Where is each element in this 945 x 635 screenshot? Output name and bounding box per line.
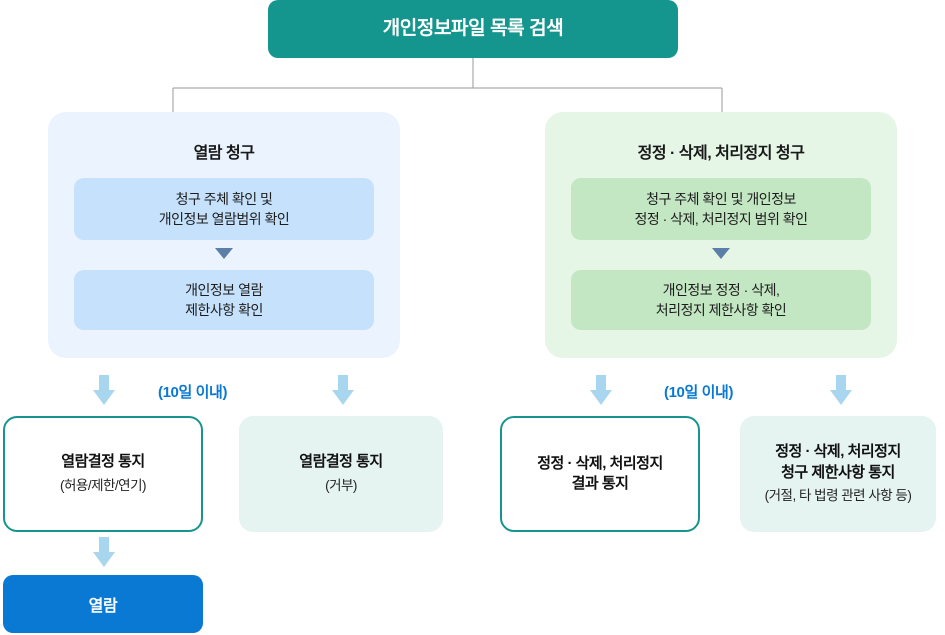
result-main-text-line1: 정정 · 삭제, 처리정지: [775, 442, 901, 462]
flowchart-canvas: 개인정보파일 목록 검색 열람 청구 청구 주체 확인 및 개인정보 열람범위 …: [0, 0, 945, 635]
final-box-label: 열람: [89, 592, 118, 616]
step-line-1: 개인정보 열람: [185, 280, 263, 300]
down-arrow-icon-final: [93, 537, 115, 567]
result-main-text-line2: 결과 통지: [572, 474, 629, 494]
result-box-view-decision-reject[interactable]: 열람결정 통지 (거부): [239, 416, 443, 532]
result-box-view-decision-allow[interactable]: 열람결정 통지 (허용/제한/연기): [3, 416, 203, 532]
header-title: 개인정보파일 목록 검색: [383, 18, 564, 41]
down-arrow-icon-view-approve: [93, 375, 115, 405]
result-main-text: 열람결정 통지: [61, 452, 144, 472]
step-line-2: 개인정보 열람범위 확인: [159, 209, 290, 229]
step-line-1: 청구 주체 확인 및 개인정보: [634, 189, 807, 209]
step-view-request-1: 청구 주체 확인 및 개인정보 열람범위 확인: [74, 178, 374, 240]
step-line-1: 청구 주체 확인 및: [159, 189, 290, 209]
branch-title-view-request: 열람 청구: [48, 144, 400, 163]
step-flow-triangle-icon-left: [215, 248, 233, 259]
final-box-view[interactable]: 열람: [3, 575, 203, 633]
deadline-label-correction-request: (10일 이내): [664, 381, 733, 402]
step-line-2: 처리정지 제한사항 확인: [656, 300, 787, 320]
result-main-text-line1: 정정 · 삭제, 처리정지: [537, 454, 663, 474]
step-flow-triangle-icon-right: [712, 248, 730, 259]
step-line-2: 정정 · 삭제, 처리정지 범위 확인: [634, 209, 807, 229]
branch-title-correction-request: 정정 · 삭제, 처리정지 청구: [545, 144, 897, 163]
deadline-label-view-request: (10일 이내): [158, 381, 227, 402]
result-box-correction-restriction[interactable]: 정정 · 삭제, 처리정지 청구 제한사항 통지 (거절, 타 법령 관련 사항…: [740, 416, 936, 532]
result-box-correction-result[interactable]: 정정 · 삭제, 처리정지 결과 통지: [500, 416, 700, 532]
result-sub-text: (거절, 타 법령 관련 사항 등): [765, 487, 912, 506]
step-correction-request-1: 청구 주체 확인 및 개인정보 정정 · 삭제, 처리정지 범위 확인: [571, 178, 871, 240]
header-box[interactable]: 개인정보파일 목록 검색: [268, 0, 678, 58]
step-view-request-2: 개인정보 열람 제한사항 확인: [74, 270, 374, 330]
down-arrow-icon-correction-restriction: [830, 375, 852, 405]
step-line-2: 제한사항 확인: [185, 300, 263, 320]
result-sub-text: (거부): [325, 477, 357, 496]
down-arrow-icon-correction-result: [590, 375, 612, 405]
step-correction-request-2: 개인정보 정정 · 삭제, 처리정지 제한사항 확인: [571, 270, 871, 330]
step-line-1: 개인정보 정정 · 삭제,: [656, 280, 787, 300]
down-arrow-icon-view-reject: [332, 375, 354, 405]
result-main-text-line2: 청구 제한사항 통지: [781, 463, 895, 483]
result-sub-text: (허용/제한/연기): [60, 477, 146, 496]
result-main-text: 열람결정 통지: [299, 452, 382, 472]
